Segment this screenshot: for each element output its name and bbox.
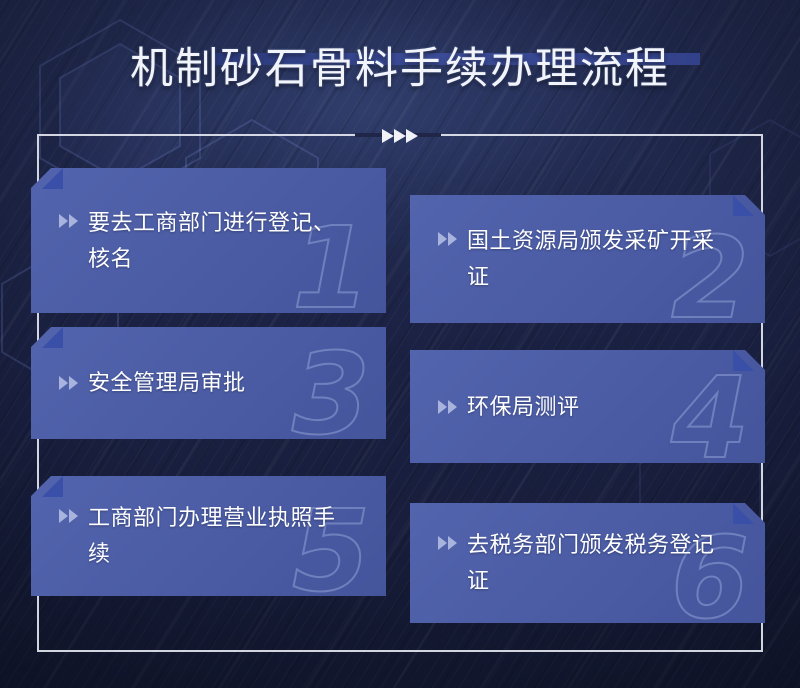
- step-box-5[interactable]: 5 工商部门办理营业执照手续: [31, 476, 386, 596]
- double-arrow-right-icon: [59, 214, 79, 228]
- page-title-text: 机制砂石骨料手续办理流程: [130, 34, 670, 96]
- double-arrow-right-icon: [59, 376, 79, 390]
- step-label-6: 去税务部门颁发税务登记证: [467, 527, 735, 599]
- double-arrow-right-icon: [438, 400, 458, 414]
- step-label-5: 工商部门办理营业执照手续: [88, 500, 348, 572]
- double-arrow-right-icon: [59, 509, 79, 523]
- step-box-3[interactable]: 3 安全管理局审批: [31, 327, 386, 439]
- step-label-2: 国土资源局颁发采矿开采证: [467, 223, 735, 295]
- page-title: 机制砂石骨料手续办理流程: [0, 34, 800, 96]
- step-box-4[interactable]: 4 环保局测评: [410, 350, 765, 463]
- double-arrow-right-icon: [438, 536, 458, 550]
- step-label-4: 环保局测评: [467, 389, 580, 425]
- step-label-3: 安全管理局审批: [88, 365, 246, 401]
- double-arrow-right-icon: [438, 232, 458, 246]
- step-box-6[interactable]: 6 去税务部门颁发税务登记证: [410, 503, 765, 623]
- infographic-canvas: 机制砂石骨料手续办理流程 1 要去工商部门进行登记、核名 2 国土资源局颁发: [0, 0, 800, 688]
- step-box-2[interactable]: 2 国土资源局颁发采矿开采证: [410, 195, 765, 323]
- step-box-1[interactable]: 1 要去工商部门进行登记、核名: [31, 168, 386, 313]
- triple-arrow-right-icon: [382, 127, 422, 145]
- step-label-1: 要去工商部门进行登记、核名: [88, 205, 348, 277]
